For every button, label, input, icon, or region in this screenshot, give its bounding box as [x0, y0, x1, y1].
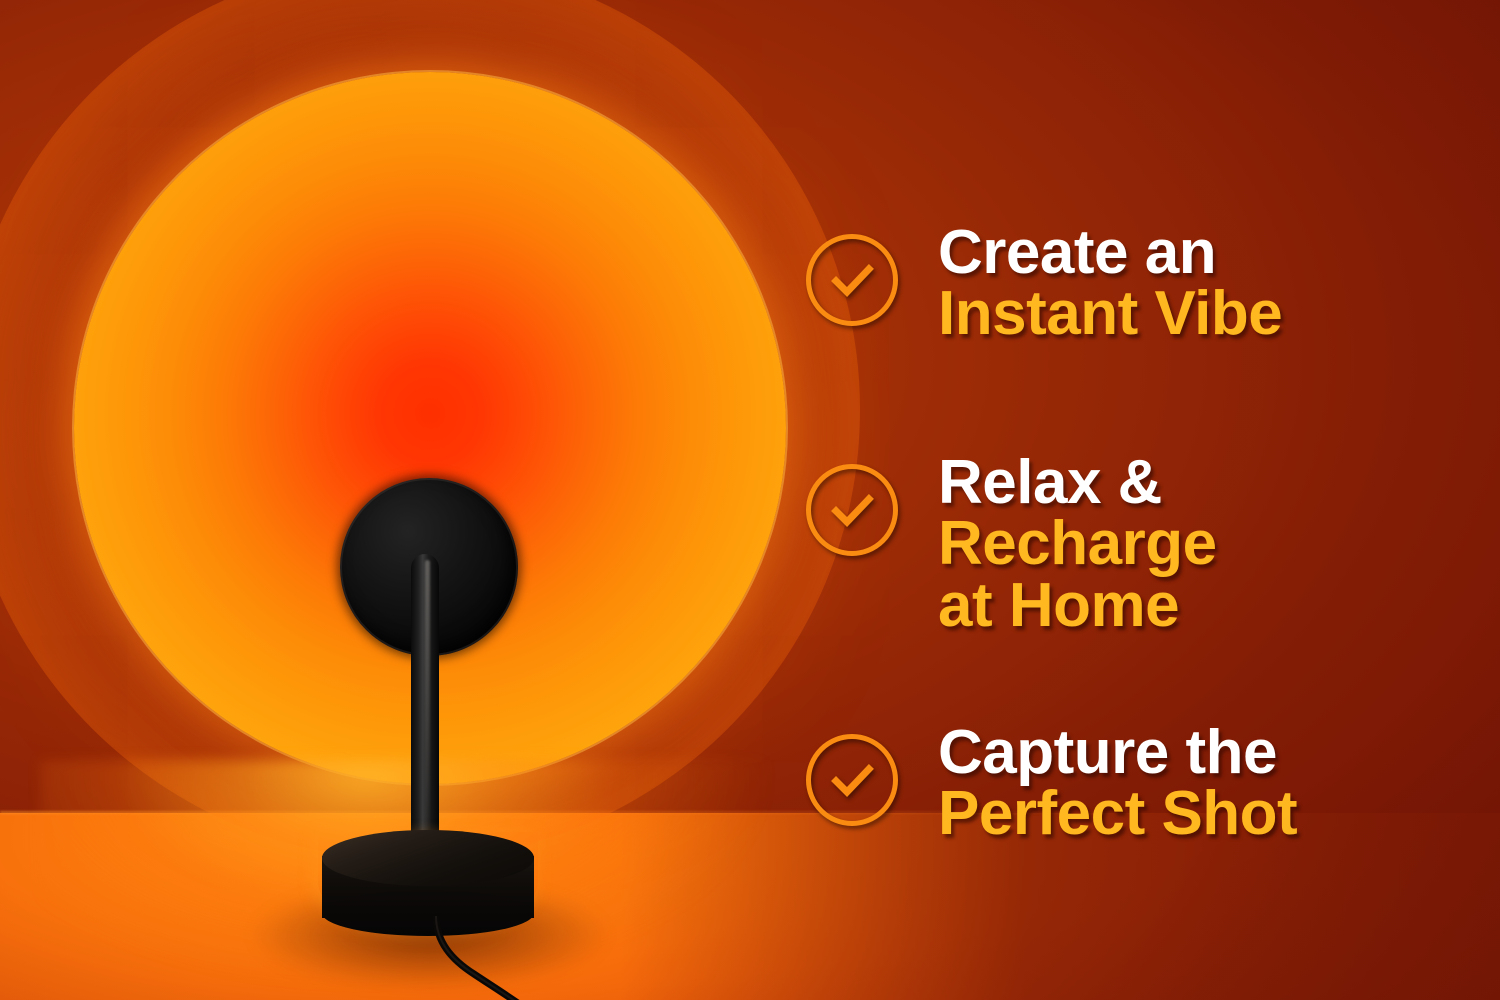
- benefit-2-line-1: Relax &: [938, 452, 1217, 513]
- lamp-base-top: [322, 830, 534, 886]
- benefit-item-3: Capture the Perfect Shot: [806, 722, 1297, 845]
- benefit-item-2: Relax & Recharge at Home: [806, 452, 1217, 636]
- benefit-text-3: Capture the Perfect Shot: [938, 722, 1297, 845]
- benefit-1-line-2: Instant Vibe: [938, 283, 1282, 344]
- benefit-3-line-1: Capture the: [938, 722, 1297, 783]
- benefit-2-line-3: at Home: [938, 575, 1217, 636]
- benefit-2-line-2: Recharge: [938, 513, 1217, 574]
- benefits-list: Create an Instant Vibe Relax & Recharge …: [800, 0, 1500, 1000]
- benefit-text-1: Create an Instant Vibe: [938, 222, 1282, 345]
- lamp-neck-highlight: [425, 560, 430, 830]
- promo-banner: Create an Instant Vibe Relax & Recharge …: [0, 0, 1500, 1000]
- benefit-1-line-1: Create an: [938, 222, 1282, 283]
- check-circle-icon: [806, 464, 898, 556]
- benefit-3-line-2: Perfect Shot: [938, 783, 1297, 844]
- check-circle-icon: [806, 234, 898, 326]
- benefit-item-1: Create an Instant Vibe: [806, 222, 1282, 345]
- power-cord: [430, 916, 550, 1000]
- benefit-text-2: Relax & Recharge at Home: [938, 452, 1217, 636]
- check-circle-icon: [806, 734, 898, 826]
